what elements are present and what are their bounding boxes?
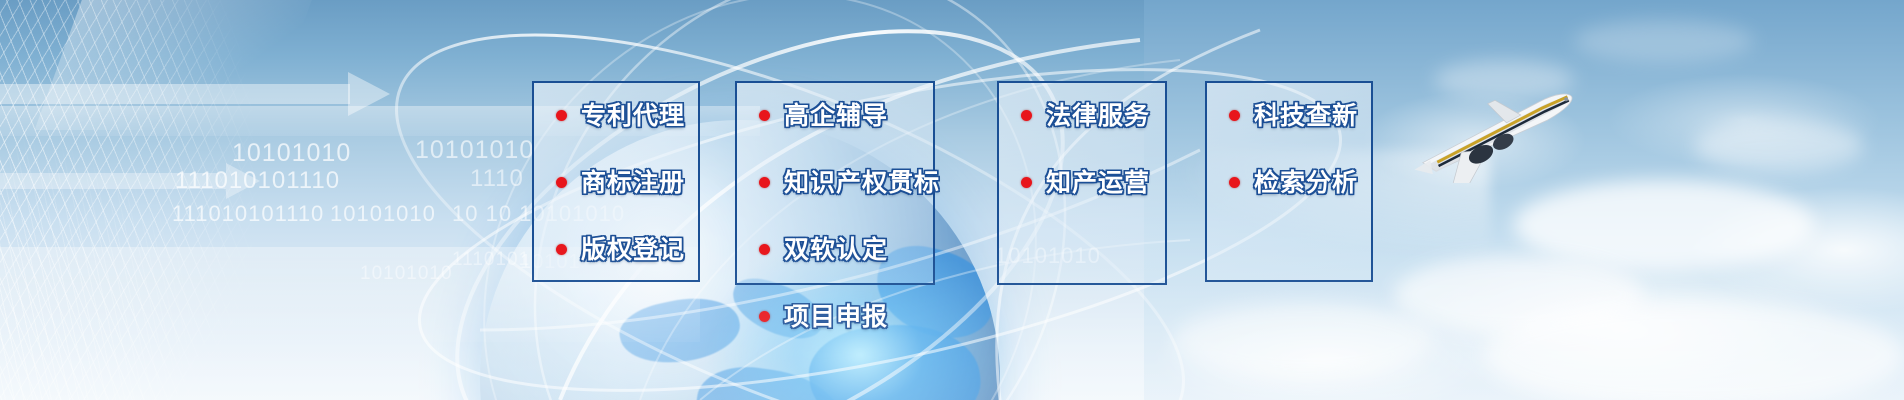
service-banner: 10101010 111010101110 10101010 1110 1110… xyxy=(0,0,1904,400)
bottom-fade-overlay xyxy=(0,0,1904,400)
